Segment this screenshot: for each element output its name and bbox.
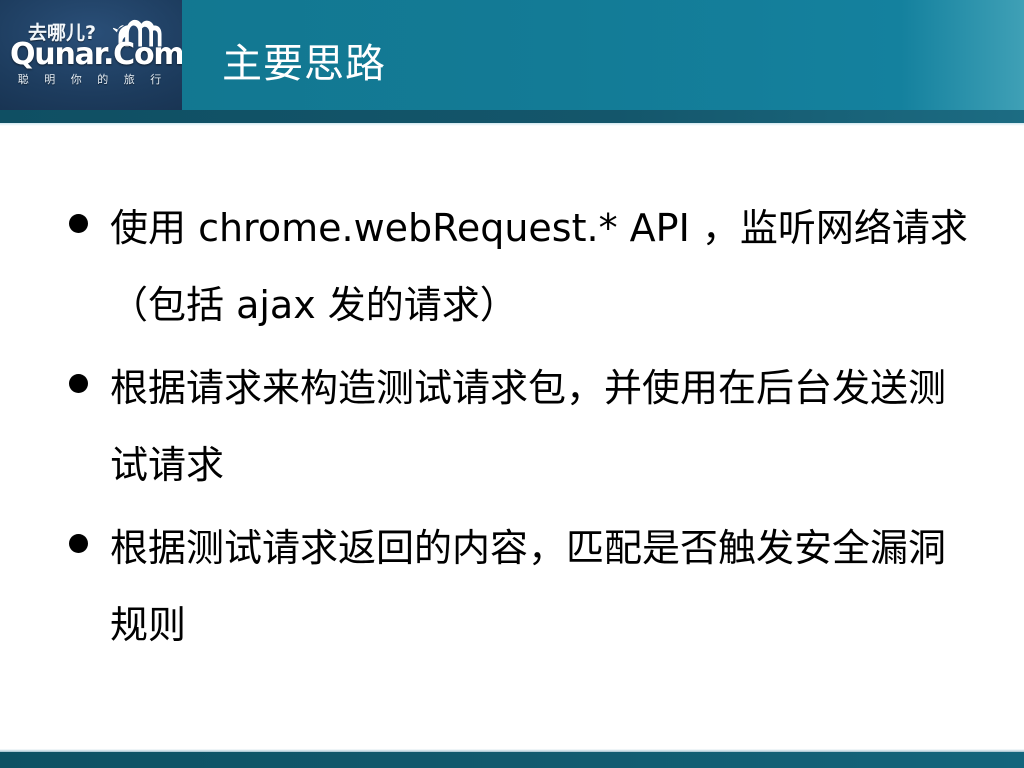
slide-content-body: 使用 chrome.webRequest.* API ，监听网络请求（包括 aj… <box>62 190 972 670</box>
bullet-text: 根据测试请求返回的内容，匹配是否触发安全漏洞规则 <box>110 510 972 664</box>
header-hairline <box>0 123 1024 126</box>
bullet-dot-icon <box>69 374 88 393</box>
bullet-item: 根据测试请求返回的内容，匹配是否触发安全漏洞规则 <box>62 510 972 664</box>
bullet-text: 根据请求来构造测试请求包，并使用在后台发送测试请求 <box>110 350 972 504</box>
presentation-slide: 去哪儿? Qunar.Com 聪 明 你 的 旅 行 主要思路 使用 chrom… <box>0 0 1024 768</box>
bullet-text: 使用 chrome.webRequest.* API ，监听网络请求（包括 aj… <box>110 190 972 344</box>
bullet-dot-icon <box>69 214 88 233</box>
brand-logo-inner: 去哪儿? Qunar.Com 聪 明 你 的 旅 行 <box>0 0 182 110</box>
brand-tagline: 聪 明 你 的 旅 行 <box>10 74 175 85</box>
bullet-item: 使用 chrome.webRequest.* API ，监听网络请求（包括 aj… <box>62 190 972 344</box>
brand-logo-block: 去哪儿? Qunar.Com 聪 明 你 的 旅 行 <box>0 0 182 110</box>
bullet-item: 根据请求来构造测试请求包，并使用在后台发送测试请求 <box>62 350 972 504</box>
brand-name-english: Qunar.Com <box>10 40 175 70</box>
header-underline-strip <box>0 110 1024 123</box>
bullet-dot-icon <box>69 534 88 553</box>
slide-footer-bar <box>0 752 1024 768</box>
slide-title: 主要思路 <box>222 44 386 84</box>
